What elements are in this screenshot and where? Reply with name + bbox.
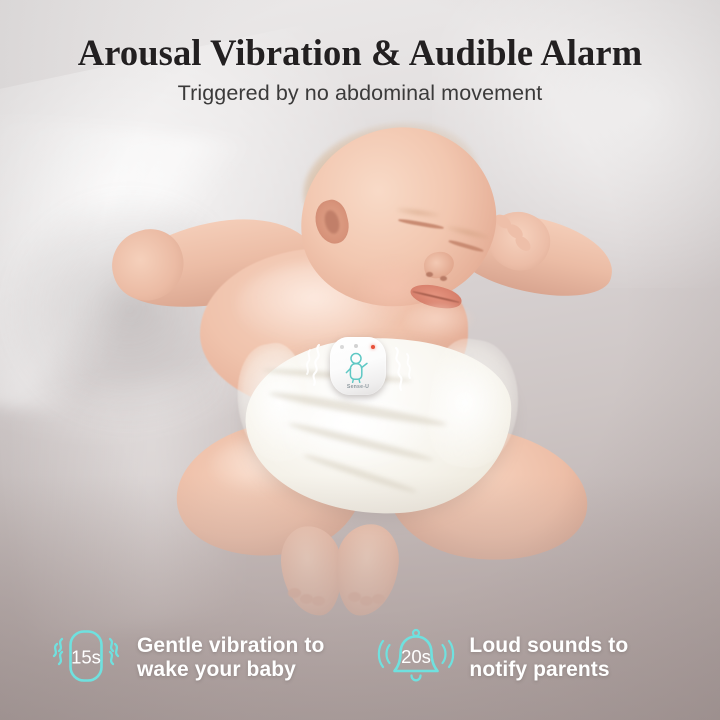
vibration-timer-icon: 15s — [48, 625, 124, 692]
feature-vibration: 15s Gentle vibration to wake your baby — [48, 625, 324, 692]
baby-photo: Sense-U — [0, 0, 720, 720]
vibration-duration-label: 15s — [71, 646, 101, 667]
headline-block: Arousal Vibration & Audible Alarm Trigge… — [0, 34, 720, 106]
feature-vibration-label: Gentle vibration to wake your baby — [137, 634, 324, 683]
alarm-duration-label: 20s — [402, 646, 432, 667]
feature-alarm-label: Loud sounds to notify parents — [469, 634, 628, 683]
page-subtitle: Triggered by no abdominal movement — [0, 81, 720, 106]
promo-image: Sense-U Arousal Vibration & Audible Alar… — [0, 0, 720, 720]
page-title: Arousal Vibration & Audible Alarm — [0, 34, 720, 72]
photo-vignette — [0, 0, 720, 720]
feature-alarm: 20s Loud sounds to notify parents — [376, 625, 628, 692]
alarm-bell-icon: 20s — [376, 625, 456, 692]
feature-row: 15s Gentle vibration to wake your baby 2… — [0, 622, 720, 694]
